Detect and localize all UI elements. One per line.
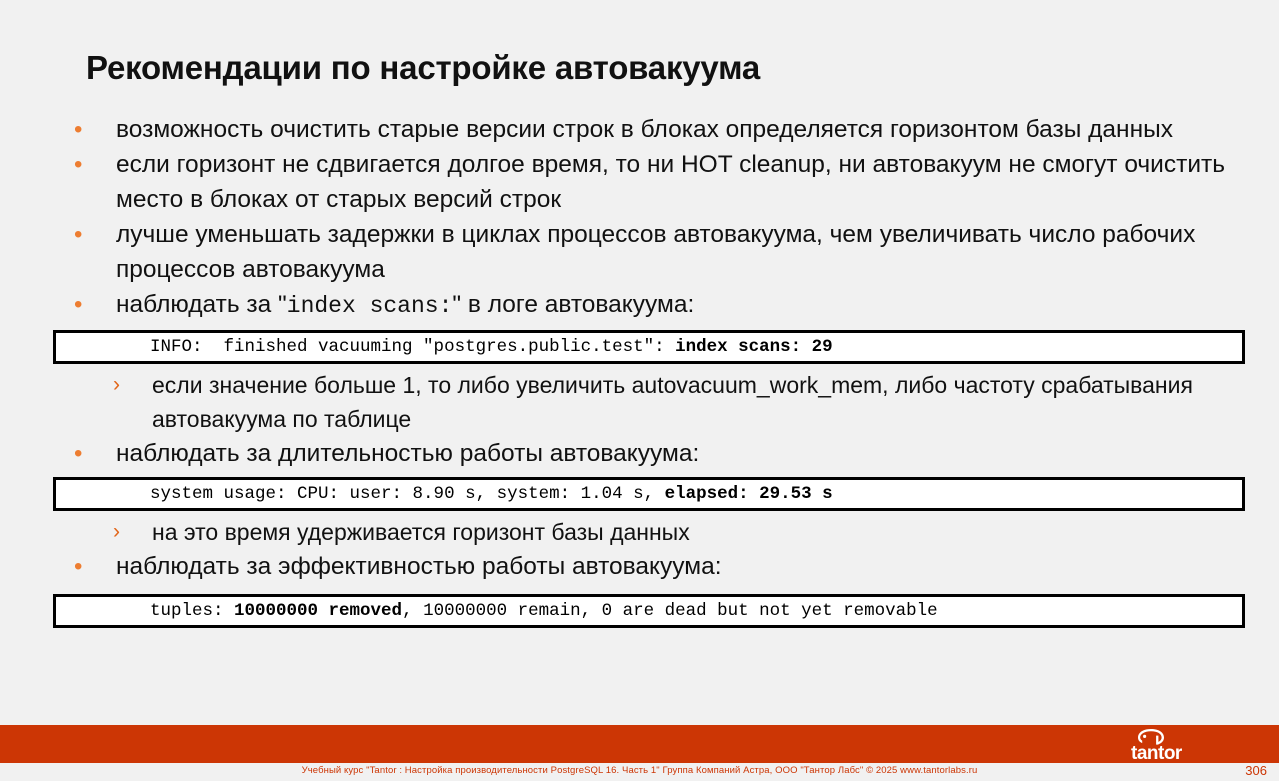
bullet-text: наблюдать за " — [116, 291, 287, 318]
bullet-item: • наблюдать за эффективностью работы авт… — [0, 549, 1279, 584]
log-box-system-usage: system usage: CPU: user: 8.90 s, system:… — [53, 477, 1245, 511]
sub-bullet-item: › на это время удерживается горизонт баз… — [0, 515, 1279, 549]
log-line: tuples: 10000000 removed, 10000000 remai… — [66, 581, 938, 641]
chevron-right-icon: › — [113, 515, 133, 549]
sub-bullet-item: › если значение больше 1, то либо увелич… — [0, 368, 1279, 436]
log-segment: INFO: finished vacuuming "postgres.publi… — [150, 337, 675, 357]
bullet-text: если горизонт не сдвигается долгое время… — [116, 151, 1225, 213]
bullet-item: • лучше уменьшать задержки в циклах проц… — [0, 217, 1279, 287]
chevron-right-icon: › — [113, 368, 133, 402]
log-segment-bold: index scans: 29 — [675, 337, 833, 357]
logo-wordmark: tantor — [1131, 743, 1183, 763]
log-segment-bold: elapsed: 29.53 s — [665, 484, 833, 504]
slide-root: Рекомендации по настройке автовакуума • … — [0, 0, 1279, 781]
bullet-marker-icon: • — [74, 217, 94, 252]
page-title: Рекомендации по настройке автовакуума — [86, 48, 1186, 88]
bullet-item: • если горизонт не сдвигается долгое вре… — [0, 147, 1279, 217]
log-segment-tail: , 10000000 remain, 0 are dead but not ye… — [402, 601, 938, 621]
log-segment-bold: 10000000 removed — [234, 601, 402, 621]
inline-code-index-scans: index scans: — [287, 293, 453, 319]
tantor-logo: tantor — [1129, 727, 1245, 763]
slide-body: • возможность очистить старые версии стр… — [0, 112, 1279, 632]
sub-bullet-text: если значение больше 1, то либо увеличит… — [152, 372, 1193, 432]
sub-bullet-text: на это время удерживается горизонт базы … — [152, 519, 690, 545]
page-number: 306 — [1245, 763, 1267, 779]
bullet-text: наблюдать за длительностью работы автова… — [116, 440, 699, 467]
bullet-text: лучше уменьшать задержки в циклах процес… — [116, 221, 1195, 283]
bullet-marker-icon: • — [74, 147, 94, 182]
footer-course-note: Учебный курс "Tantor : Настройка произво… — [0, 764, 1279, 778]
bullet-text: наблюдать за эффективностью работы автов… — [116, 553, 722, 580]
bullet-text: возможность очистить старые версии строк… — [116, 116, 1173, 143]
bullet-marker-icon: • — [74, 112, 94, 147]
bullet-text-tail: " в логе автовакуума: — [452, 291, 694, 318]
footer-bar — [0, 725, 1279, 763]
bullet-marker-icon: • — [74, 549, 94, 584]
log-segment: tuples: — [150, 601, 234, 621]
log-box-tuples: tuples: 10000000 removed, 10000000 remai… — [53, 594, 1245, 628]
log-segment: system usage: CPU: user: 8.90 s, system:… — [150, 484, 665, 504]
bullet-item: • возможность очистить старые версии стр… — [0, 112, 1279, 147]
log-box-index-scans: INFO: finished vacuuming "postgres.publi… — [53, 330, 1245, 364]
